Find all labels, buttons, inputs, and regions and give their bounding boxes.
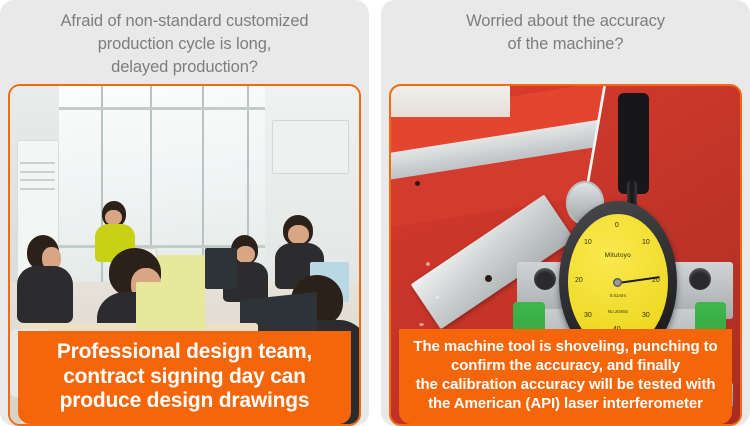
indicator-holder-arm — [618, 93, 649, 194]
header-line-2: production cycle is long, — [16, 33, 353, 56]
feature-cards-stage: Afraid of non-standard customized produc… — [0, 0, 750, 426]
dial-tick-0: 0 — [615, 222, 619, 229]
dial-tick-30r: 30 — [642, 312, 650, 319]
header-line-1: Worried about the accuracy — [397, 10, 734, 33]
dial-tick-30l: 30 — [584, 312, 592, 319]
dial-hub — [613, 278, 622, 287]
window-rail-top — [59, 107, 268, 110]
panel-machine-accuracy: Worried about the accuracy of the machin… — [381, 0, 750, 426]
panel-design-team: Afraid of non-standard customized produc… — [0, 0, 369, 426]
plate-bore-right — [689, 268, 711, 290]
monitor-back-dark — [205, 248, 236, 289]
person-mid-left — [17, 235, 73, 323]
machine-top-highlight — [391, 86, 510, 116]
panel-header-machine-accuracy: Worried about the accuracy of the machin… — [381, 0, 750, 84]
dial-tick-10r: 10 — [642, 239, 650, 246]
monitor-foreground-pale — [136, 282, 206, 329]
header-line-2: of the machine? — [397, 33, 734, 56]
panel-header-design-team: Afraid of non-standard customized produc… — [0, 0, 369, 84]
dial-tick-10l: 10 — [584, 239, 592, 246]
dial-graduation-label: 0.01mm — [568, 293, 668, 298]
dial-brand-label: Mitutoyo — [568, 252, 668, 259]
photo-frame-machine-accuracy: HIWIN Mitutoyo 0.01mm — [389, 84, 742, 426]
header-line-1: Afraid of non-standard customized — [16, 10, 353, 33]
plate-bore-left — [534, 268, 556, 290]
caption-machine-accuracy: The machine tool is shoveling, punching … — [399, 329, 732, 424]
caption-design-team: Professional design team, contract signi… — [18, 331, 351, 424]
caption-line-2: contract signing day can — [26, 365, 343, 390]
photo-frame-design-team: Professional design team, contract signi… — [8, 84, 361, 426]
caption-line-1: Professional design team, — [26, 340, 343, 365]
header-line-3: delayed production? — [16, 56, 353, 79]
window-mullion-3 — [202, 86, 204, 282]
caption-line-3: the calibration accuracy will be tested … — [407, 376, 724, 395]
caption-line-2: confirm the accuracy, and finally — [407, 357, 724, 376]
caption-line-3: produce design drawings — [26, 389, 343, 414]
wall-vent-right — [272, 120, 349, 174]
dial-tick-20l: 20 — [575, 277, 583, 284]
caption-line-1: The machine tool is shoveling, punching … — [407, 338, 724, 357]
caption-line-4: the American (API) laser interferometer — [407, 395, 724, 414]
